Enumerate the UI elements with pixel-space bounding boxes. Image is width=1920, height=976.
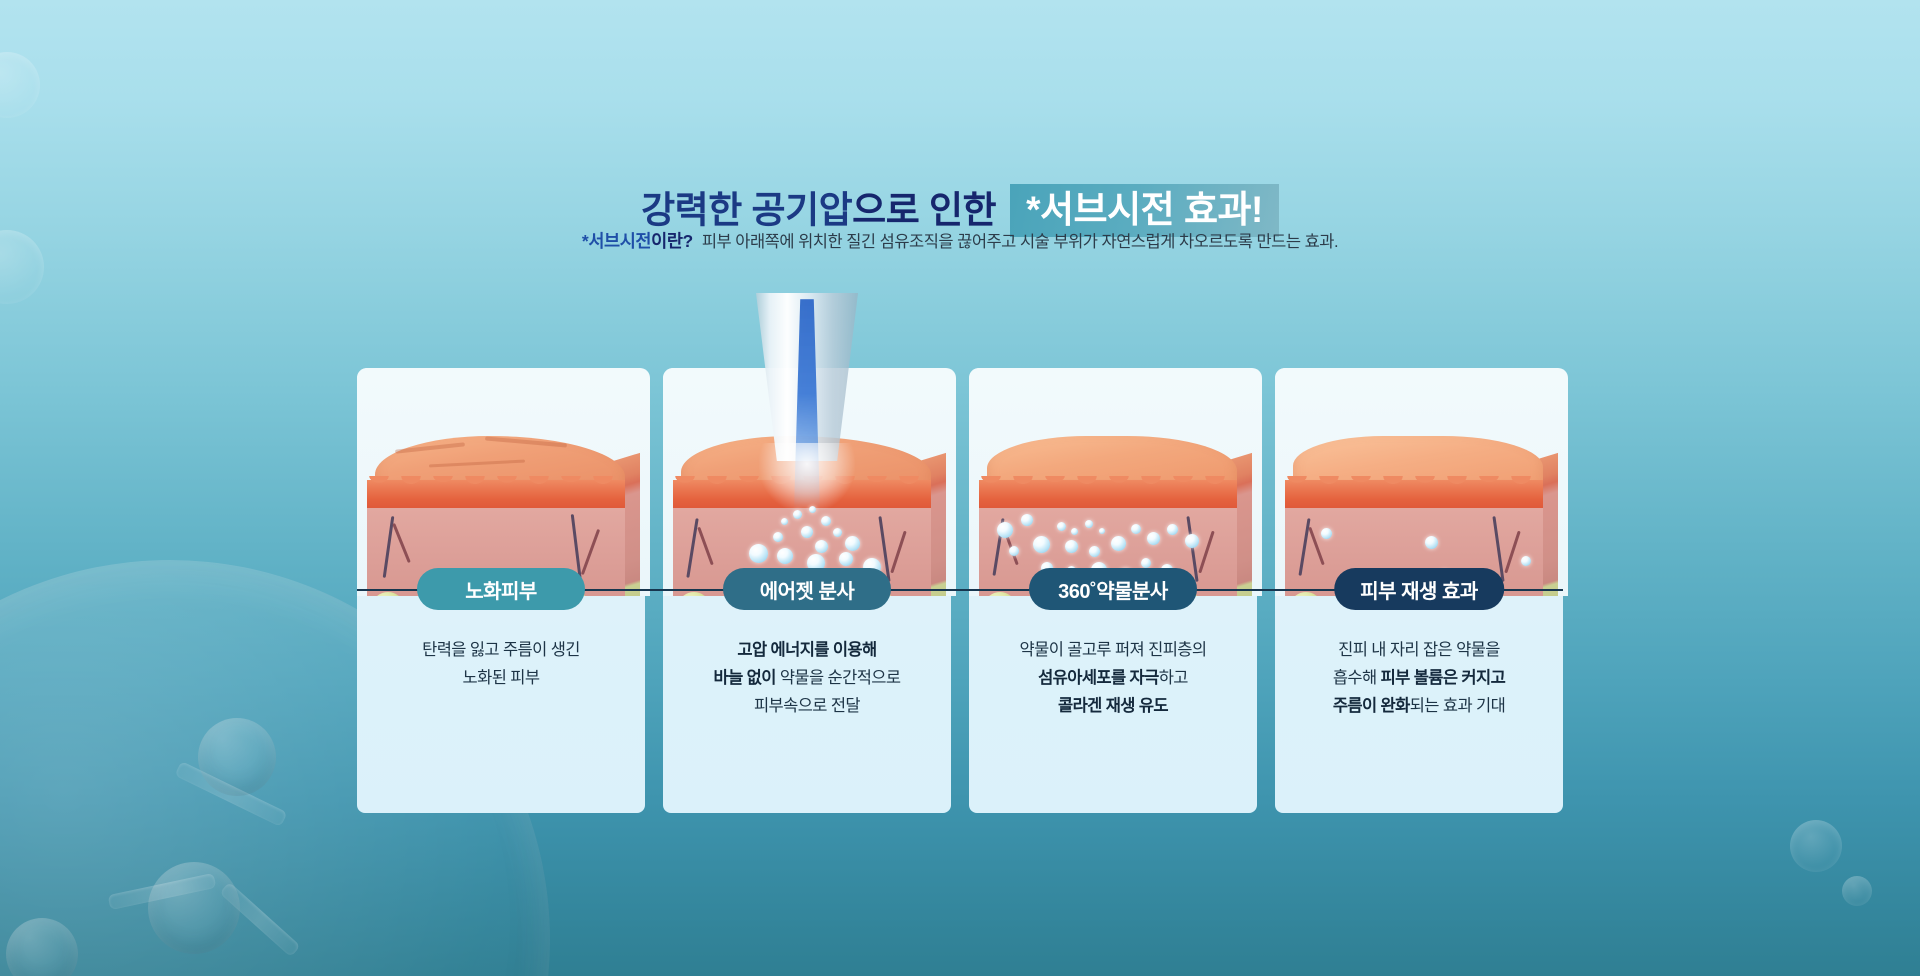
caption-bold: 주름이 완화 [1333,697,1410,715]
caption-line: 주름이 완화되는 효과 기대 [1289,692,1549,720]
bubble-icon [1790,820,1842,872]
caption-line: 노화된 피부 [371,664,631,692]
caption-pre: 흡수해 [1333,669,1381,687]
caption-line: 바늘 없이 약물을 순간적으로 [677,664,937,692]
step-badge: 에어젯 분사 [723,568,891,610]
step-badge-label: 에어젯 분사 [760,575,855,604]
caption-bold: 고압 에너지를 이용해 [737,641,876,659]
caption-line: 흡수해 피부 볼륨은 커지고 [1289,664,1549,692]
caption-line: 콜라겐 재생 유도 [983,692,1243,720]
caption-line: 진피 내 자리 잡은 약물을 [1289,636,1549,664]
title-plain: 으로 인한 [852,189,996,230]
caption-line: 약물이 골고루 퍼져 진피층의 [983,636,1243,664]
airjet-nozzle-icon [749,293,865,483]
step-badge: 360˚약물분사 [1029,568,1197,610]
step-caption: 진피 내 자리 잡은 약물을 흡수해 피부 볼륨은 커지고 주름이 완화되는 효… [1275,636,1563,720]
bubble-icon [0,52,40,118]
step-badge-label: 피부 재생 효과 [1360,575,1478,604]
molecule-node [198,718,276,796]
step-badge-label: 360˚약물분사 [1058,575,1168,604]
caption-line: 섬유아세포를 자극하고 [983,664,1243,692]
skin-illustration [357,368,650,596]
caption-rest: 약물을 순간적으로 [776,669,901,687]
page-subtitle: *서브시전이란?피부 아래쪽에 위치한 질긴 섬유조직을 끊어주고 시술 부위가… [0,228,1920,253]
skin-illustration [969,368,1262,596]
caption-rest: 되는 효과 기대 [1410,697,1505,715]
subtitle-term-suffix: 이란? [651,231,693,251]
subtitle-description: 피부 아래쪽에 위치한 질긴 섬유조직을 끊어주고 시술 부위가 자연스럽게 차… [702,233,1338,251]
caption-bold: 바늘 없이 [714,669,776,687]
molecule-node [148,862,240,954]
caption-bold: 섬유아세포를 자극 [1038,669,1159,687]
molecule-bond [108,873,217,910]
step-badge: 노화피부 [417,568,585,610]
step-badge-label: 노화피부 [465,575,537,604]
bubble-icon [1842,876,1872,906]
caption-rest: 하고 [1159,669,1188,687]
subtitle-term: *서브시전 [582,231,651,251]
promo-banner: 강력한 공기압으로 인한*서브시전 효과! *서브시전이란?피부 아래쪽에 위치… [0,0,1920,976]
molecule-node [6,918,78,976]
step-caption: 약물이 골고루 퍼져 진피층의 섬유아세포를 자극하고 콜라겐 재생 유도 [969,636,1257,720]
caption-line: 탄력을 잃고 주름이 생긴 [371,636,631,664]
title-strong: 강력한 공기압 [641,189,852,230]
caption-line: 피부속으로 전달 [677,692,937,720]
step-caption: 고압 에너지를 이용해 바늘 없이 약물을 순간적으로 피부속으로 전달 [663,636,951,720]
molecule-bond [174,761,287,827]
molecule-bond [219,882,300,957]
caption-bold: 피부 볼륨은 커지고 [1381,669,1506,687]
caption-bold: 콜라겐 재생 유도 [1058,697,1168,715]
skin-illustration [1275,368,1568,596]
caption-line: 고압 에너지를 이용해 [677,636,937,664]
step-badge: 피부 재생 효과 [1334,568,1504,610]
step-caption: 탄력을 잃고 주름이 생긴 노화된 피부 [357,636,645,692]
